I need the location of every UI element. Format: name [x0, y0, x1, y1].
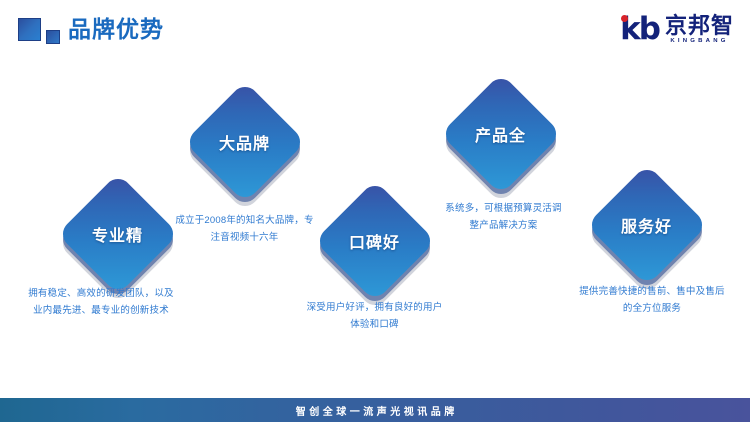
diamond-card-1[interactable]: 专业精 [57, 173, 178, 294]
header-square-small-icon [46, 30, 60, 44]
diamond-description-1: 拥有稳定、高效的研发团队，以及业内最先进、最专业的创新技术 [26, 285, 176, 319]
slide-canvas: 品牌优势 kb 京邦智 KINGBANG 专业精拥有稳定、高效的研发团队，以及业… [0, 0, 750, 422]
logo-red-dot-icon [621, 15, 628, 22]
diamond-face [184, 81, 306, 203]
diamond-description-3: 深受用户好评，拥有良好的用户体验和口碑 [302, 299, 447, 333]
diamond-description-2: 成立于2008年的知名大品牌，专注音视频十六年 [172, 212, 317, 246]
diamond-face [586, 164, 708, 286]
diamond-card-3[interactable]: 口碑好 [314, 180, 435, 301]
page-title: 品牌优势 [68, 14, 164, 44]
diamond-description-5: 提供完善快捷的售前、售中及售后的全方位服务 [578, 283, 726, 317]
diamond-card-5[interactable]: 服务好 [586, 164, 707, 285]
diamond-face [314, 180, 436, 302]
brand-logo: kb 京邦智 KINGBANG [620, 12, 734, 46]
footer-slogan: 智创全球一流声光视讯品牌 [0, 398, 750, 422]
slide-footer: 智创全球一流声光视讯品牌 [0, 398, 750, 422]
logo-name-en: KINGBANG [665, 37, 734, 44]
diamond-card-4[interactable]: 产品全 [440, 73, 561, 194]
logo-mark-text: kb [620, 14, 659, 45]
diamond-card-2[interactable]: 大品牌 [184, 81, 305, 202]
diamond-description-4: 系统多，可根据预算灵活调整产品解决方案 [441, 200, 566, 234]
diamond-face [440, 73, 562, 195]
slide-header: 品牌优势 kb 京邦智 KINGBANG [0, 0, 750, 60]
logo-name-cn: 京邦智 [665, 14, 734, 37]
diamond-face [57, 173, 179, 295]
header-square-large-icon [18, 18, 41, 41]
logo-wordmark: 京邦智 KINGBANG [665, 14, 734, 45]
